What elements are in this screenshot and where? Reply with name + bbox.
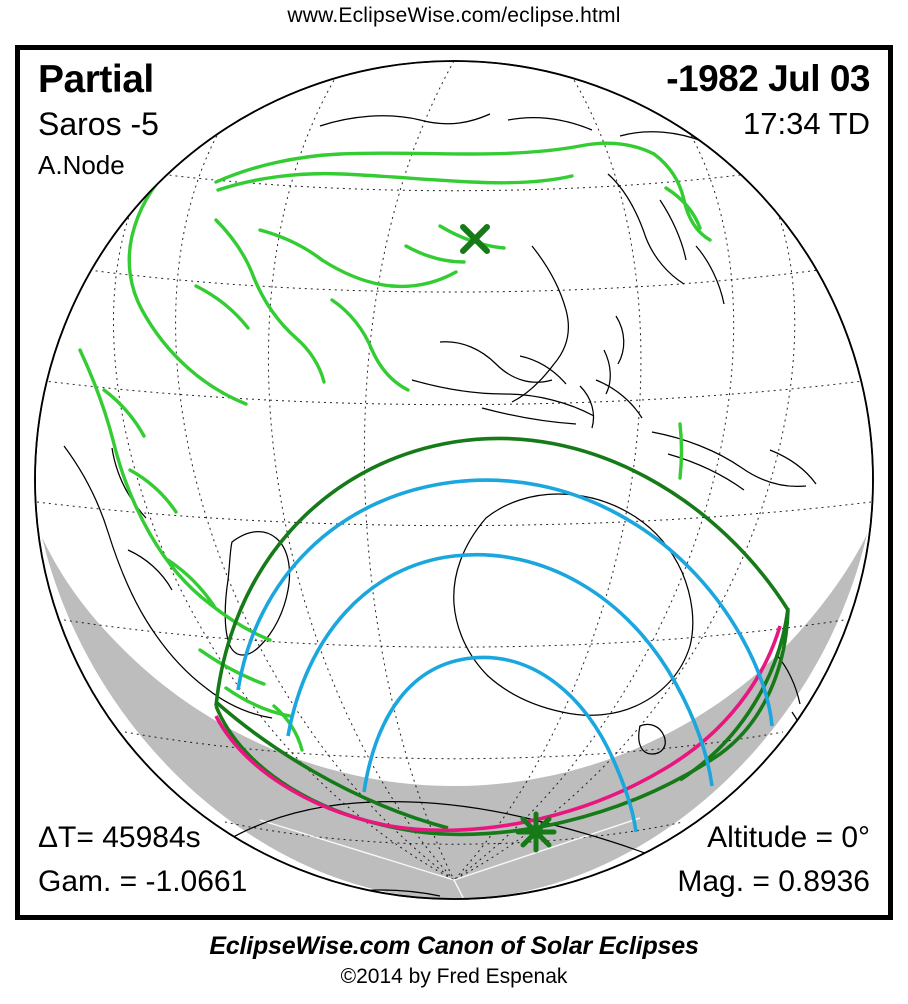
magnitude-label: Mag. = 0.8936 <box>677 865 870 899</box>
greatest-eclipse-marker <box>518 814 554 850</box>
globe-map <box>20 50 888 915</box>
eclipse-time-label: 17:34 TD <box>743 106 870 142</box>
eclipse-map-frame: Partial Saros -5 A.Node -1982 Jul 03 17:… <box>15 45 893 920</box>
altitude-label: Altitude = 0° <box>707 821 870 855</box>
source-url-text: www.EclipseWise.com/eclipse.html <box>0 4 908 28</box>
globe-disc <box>35 61 873 899</box>
canon-title-caption: EclipseWise.com Canon of Solar Eclipses <box>0 932 908 961</box>
delta-t-label: ΔT= 45984s <box>38 821 201 855</box>
saros-label: Saros -5 <box>38 106 159 143</box>
eclipse-type-label: Partial <box>38 58 154 102</box>
node-label: A.Node <box>38 150 125 181</box>
gamma-label: Gam. = -1.0661 <box>38 865 247 899</box>
eclipse-date-label: -1982 Jul 03 <box>666 58 870 100</box>
copyright-credit: ©2014 by Fred Espenak <box>0 965 908 989</box>
